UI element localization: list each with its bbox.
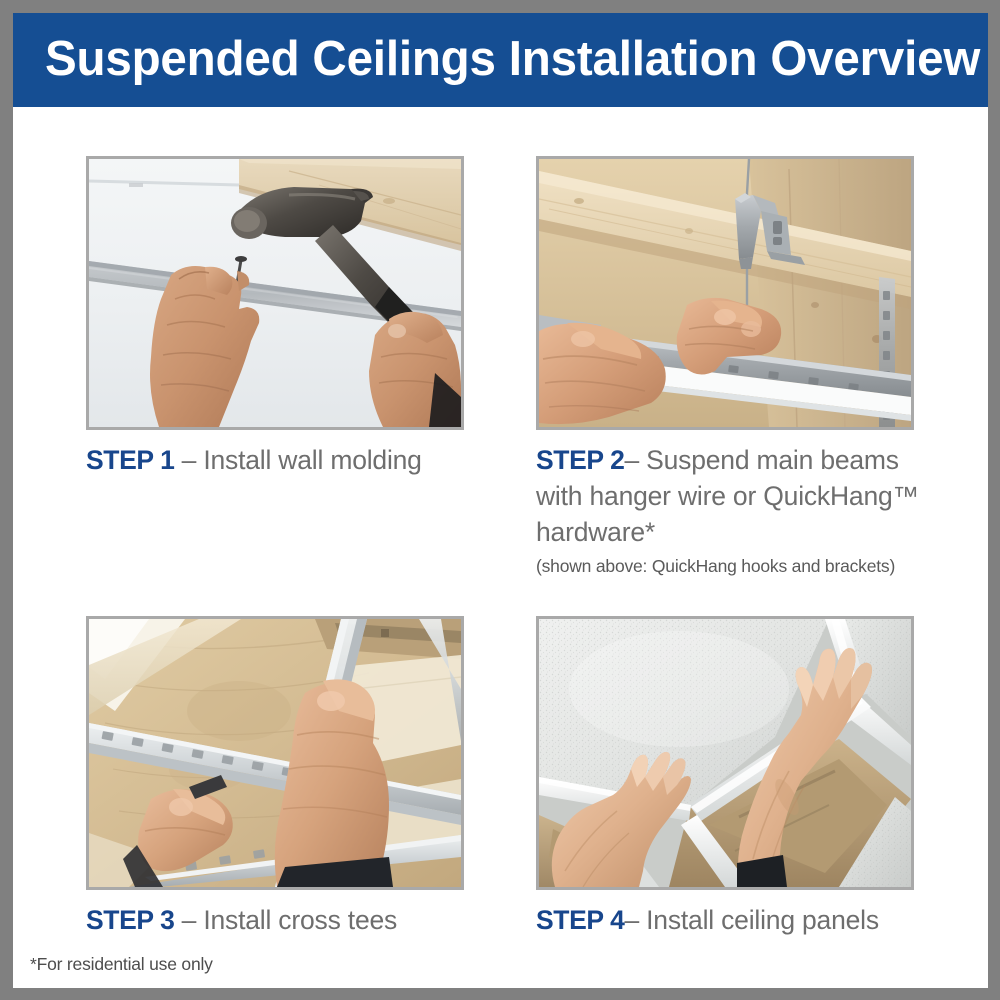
step-2-illustration bbox=[539, 159, 911, 427]
steps-grid: STEP 1 – Install wall molding bbox=[13, 107, 988, 988]
step-card-1: STEP 1 – Install wall molding bbox=[86, 156, 541, 478]
step-card-2: STEP 2– Suspend main beams with hanger w… bbox=[536, 156, 991, 578]
step-2-caption: STEP 2– Suspend main beams with hanger w… bbox=[536, 442, 936, 550]
step-4-label: STEP 4 bbox=[536, 905, 624, 935]
footnote: *For residential use only bbox=[30, 952, 213, 976]
step-2-photo bbox=[536, 156, 914, 430]
step-4-photo bbox=[536, 616, 914, 890]
step-4-caption: STEP 4– Install ceiling panels bbox=[536, 902, 936, 938]
step-2-label: STEP 2 bbox=[536, 445, 624, 475]
step-1-text: Install wall molding bbox=[203, 445, 421, 475]
step-1-caption: STEP 1 – Install wall molding bbox=[86, 442, 478, 478]
step-1-illustration bbox=[89, 159, 461, 427]
step-3-caption: STEP 3 – Install cross tees bbox=[86, 902, 478, 938]
poster-canvas: Suspended Ceilings Installation Overview bbox=[13, 13, 988, 988]
step-card-3: STEP 3 – Install cross tees bbox=[86, 616, 541, 938]
header-banner: Suspended Ceilings Installation Overview bbox=[13, 13, 988, 107]
step-3-photo bbox=[86, 616, 464, 890]
step-1-label: STEP 1 bbox=[86, 445, 174, 475]
step-card-4: STEP 4– Install ceiling panels bbox=[536, 616, 991, 938]
step-4-separator: – bbox=[624, 905, 646, 935]
step-2-subcaption: (shown above: QuickHang hooks and bracke… bbox=[536, 554, 936, 578]
step-4-illustration bbox=[539, 619, 911, 887]
poster-root: Suspended Ceilings Installation Overview bbox=[0, 0, 1000, 1000]
step-4-text: Install ceiling panels bbox=[646, 905, 879, 935]
step-2-separator: – bbox=[624, 445, 646, 475]
step-3-label: STEP 3 bbox=[86, 905, 174, 935]
step-3-separator: – bbox=[174, 905, 203, 935]
page-title: Suspended Ceilings Installation Overview bbox=[45, 29, 937, 89]
step-3-illustration bbox=[89, 619, 461, 887]
step-1-separator: – bbox=[174, 445, 203, 475]
step-3-text: Install cross tees bbox=[203, 905, 397, 935]
step-1-photo bbox=[86, 156, 464, 430]
